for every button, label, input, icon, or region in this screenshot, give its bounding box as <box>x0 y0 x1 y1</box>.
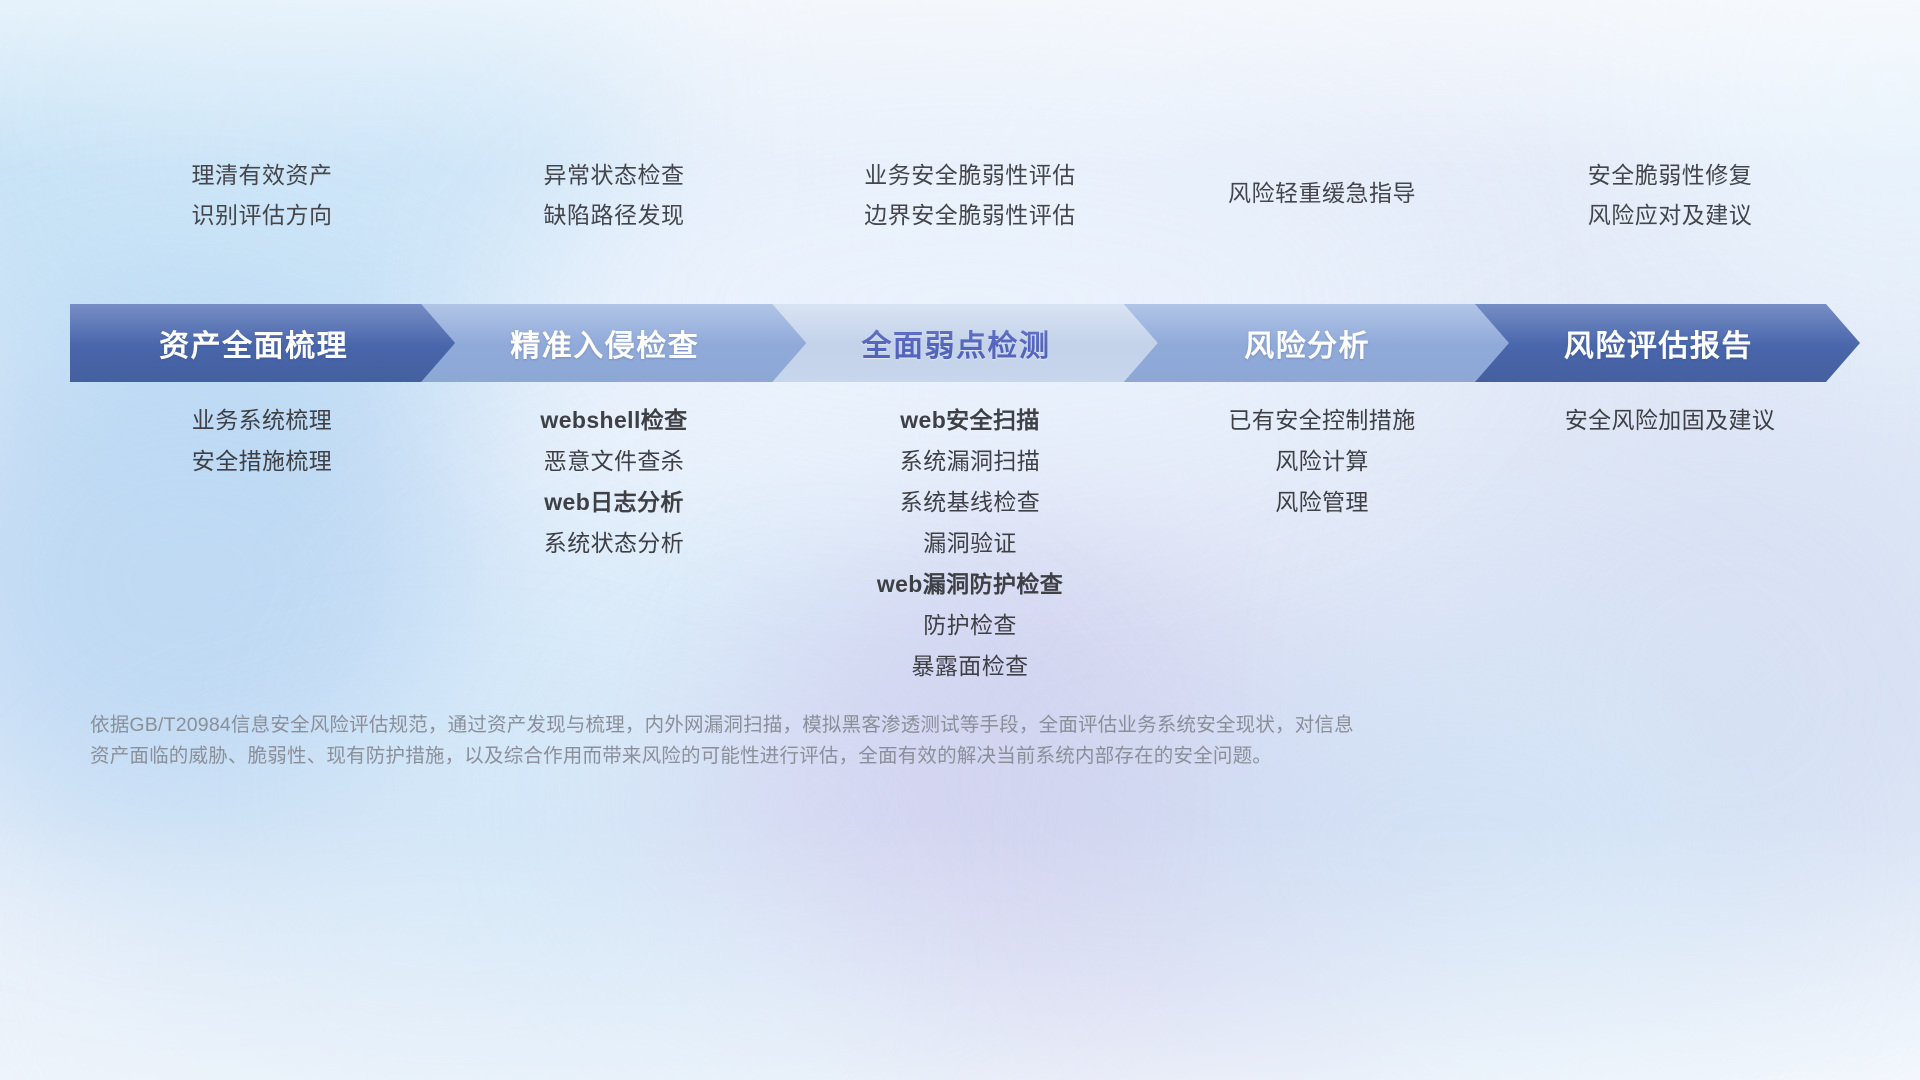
diagram-content: 理清有效资产识别评估方向异常状态检查缺陷路径发现业务安全脆弱性评估边界安全脆弱性… <box>0 0 1920 1080</box>
bottom-item: 安全措施梳理 <box>86 441 438 482</box>
bottom-item: web漏洞防护检查 <box>790 564 1150 605</box>
top-item: 风险轻重缓急指导 <box>1150 173 1494 213</box>
process-stage-4-label: 风险分析 <box>1244 321 1370 365</box>
bottom-item: 系统基线检查 <box>790 482 1150 523</box>
stage-1-top-column: 理清有效资产识别评估方向 <box>86 155 438 235</box>
stage-2-top-column: 异常状态检查缺陷路径发现 <box>438 155 790 235</box>
process-stage-1-label: 资产全面梳理 <box>159 321 348 365</box>
stage-3-bottom-column: web安全扫描系统漏洞扫描系统基线检查漏洞验证web漏洞防护检查防护检查暴露面检… <box>790 400 1150 687</box>
bottom-item: webshell检查 <box>438 400 790 441</box>
bottom-item: web日志分析 <box>438 482 790 523</box>
process-stage-2-chevron[interactable]: 精准入侵检查 <box>421 304 806 382</box>
bottom-item: 暴露面检查 <box>790 646 1150 687</box>
process-chevron-band: 资产全面梳理精准入侵检查全面弱点检测风险分析风险评估报告 <box>70 304 1860 382</box>
top-item: 异常状态检查 <box>438 155 790 195</box>
stage-top-items-row: 理清有效资产识别评估方向异常状态检查缺陷路径发现业务安全脆弱性评估边界安全脆弱性… <box>86 155 1846 235</box>
top-item: 风险应对及建议 <box>1494 195 1846 235</box>
bottom-item: 漏洞验证 <box>790 523 1150 564</box>
bottom-item: 安全风险加固及建议 <box>1494 400 1846 441</box>
bottom-item: 风险管理 <box>1150 482 1494 523</box>
stage-1-bottom-column: 业务系统梳理安全措施梳理 <box>86 400 438 482</box>
process-stage-3-chevron[interactable]: 全面弱点检测 <box>772 304 1157 382</box>
top-item: 安全脆弱性修复 <box>1494 155 1846 195</box>
stage-1-bottom-list: 业务系统梳理安全措施梳理 <box>86 400 438 482</box>
bottom-item: 业务系统梳理 <box>86 400 438 441</box>
stage-3-top-column: 业务安全脆弱性评估边界安全脆弱性评估 <box>790 155 1150 235</box>
stage-2-bottom-list: webshell检查恶意文件查杀web日志分析系统状态分析 <box>438 400 790 564</box>
stage-5-top-list: 安全脆弱性修复风险应对及建议 <box>1494 155 1846 235</box>
stage-5-bottom-list: 安全风险加固及建议 <box>1494 400 1846 441</box>
top-item: 业务安全脆弱性评估 <box>790 155 1150 195</box>
stage-3-bottom-list: web安全扫描系统漏洞扫描系统基线检查漏洞验证web漏洞防护检查防护检查暴露面检… <box>790 400 1150 687</box>
process-stage-1-chevron[interactable]: 资产全面梳理 <box>70 304 455 382</box>
stage-4-top-list: 风险轻重缓急指导 <box>1150 173 1494 235</box>
slide-canvas: 理清有效资产识别评估方向异常状态检查缺陷路径发现业务安全脆弱性评估边界安全脆弱性… <box>0 0 1920 1080</box>
process-stage-3-label: 全面弱点检测 <box>861 321 1050 365</box>
process-stage-4-chevron[interactable]: 风险分析 <box>1124 304 1509 382</box>
top-item: 理清有效资产 <box>86 155 438 195</box>
bottom-item: 系统状态分析 <box>438 523 790 564</box>
bottom-item: 已有安全控制措施 <box>1150 400 1494 441</box>
stage-3-top-list: 业务安全脆弱性评估边界安全脆弱性评估 <box>790 155 1150 235</box>
process-stage-2-label: 精准入侵检查 <box>510 321 699 365</box>
stage-1-top-list: 理清有效资产识别评估方向 <box>86 155 438 235</box>
top-item: 缺陷路径发现 <box>438 195 790 235</box>
stage-5-bottom-column: 安全风险加固及建议 <box>1494 400 1846 441</box>
stage-bottom-items-row: 业务系统梳理安全措施梳理webshell检查恶意文件查杀web日志分析系统状态分… <box>86 400 1846 687</box>
process-stage-5-label: 风险评估报告 <box>1564 321 1753 365</box>
stage-2-top-list: 异常状态检查缺陷路径发现 <box>438 155 790 235</box>
stage-4-bottom-list: 已有安全控制措施风险计算风险管理 <box>1150 400 1494 523</box>
footer-line-2: 资产面临的威胁、脆弱性、现有防护措施，以及综合作用而带来风险的可能性进行评估，全… <box>90 741 1470 772</box>
stage-2-bottom-column: webshell检查恶意文件查杀web日志分析系统状态分析 <box>438 400 790 564</box>
bottom-item: web安全扫描 <box>790 400 1150 441</box>
top-item: 识别评估方向 <box>86 195 438 235</box>
stage-5-top-column: 安全脆弱性修复风险应对及建议 <box>1494 155 1846 235</box>
bottom-item: 恶意文件查杀 <box>438 441 790 482</box>
bottom-item: 防护检查 <box>790 605 1150 646</box>
stage-4-top-column: 风险轻重缓急指导 <box>1150 173 1494 235</box>
bottom-item: 风险计算 <box>1150 441 1494 482</box>
process-stage-5-chevron[interactable]: 风险评估报告 <box>1475 304 1860 382</box>
footer-line-1: 依据GB/T20984信息安全风险评估规范，通过资产发现与梳理，内外网漏洞扫描，… <box>90 710 1470 741</box>
bottom-item: 系统漏洞扫描 <box>790 441 1150 482</box>
top-item: 边界安全脆弱性评估 <box>790 195 1150 235</box>
stage-4-bottom-column: 已有安全控制措施风险计算风险管理 <box>1150 400 1494 523</box>
footer-description: 依据GB/T20984信息安全风险评估规范，通过资产发现与梳理，内外网漏洞扫描，… <box>90 710 1470 772</box>
